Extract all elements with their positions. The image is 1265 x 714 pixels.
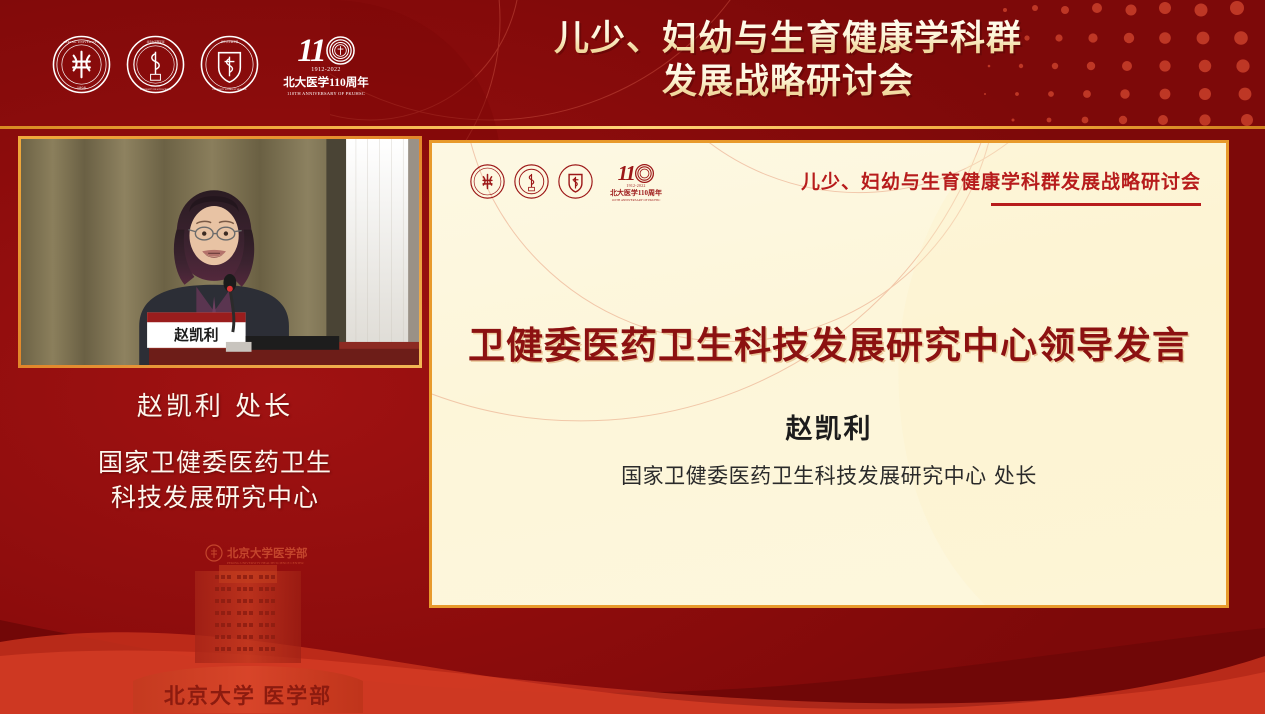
header-logo-row: PEKING UNIVERSITY 1898 北京大学医学 <box>52 32 374 96</box>
slide-anniversary-ring-icon <box>635 164 654 183</box>
anniversary-ring-icon <box>326 36 355 65</box>
speaker-organization-line-2: 科技发展研究中心 <box>0 480 430 515</box>
slide-main-title: 卫健委医药卫生科技发展研究中心领导发言 <box>432 315 1226 369</box>
slide-speaker-name: 赵凯利 <box>432 407 1226 446</box>
slide-anniversary-en-text: 110TH ANNIVERSARY OF PKUHSC <box>612 198 661 202</box>
svg-text:北京大学医学部: 北京大学医学部 <box>221 39 239 43</box>
svg-text:PEKING UNIVERSITY: PEKING UNIVERSITY <box>63 40 99 44</box>
svg-text:UNIVERSITY SCHOOL OF MEDICINE: UNIVERSITY SCHOOL OF MEDICINE <box>212 89 247 91</box>
anniversary-en-text: 110TH ANNIVERSARY OF PKUHSC <box>287 91 365 96</box>
slide-anniversary-cn-text: 北大医学110周年 <box>610 188 662 198</box>
pku-health-science-center-seal-icon: 北京大学医学部 UNIVERSITY HEALTH SCIENCE <box>126 35 185 94</box>
slide-health-science-center-seal-icon <box>514 164 549 199</box>
slide-header-underline <box>991 203 1201 206</box>
anniversary-years: 1912-2022 <box>311 67 341 73</box>
slide-speaker-affiliation: 国家卫健委医药卫生科技发展研究中心 处长 <box>432 460 1226 490</box>
speaker-video[interactable]: 赵凯利 <box>18 136 422 368</box>
left-speaker-column: 赵凯利 赵凯利 处长 国家卫健委医药卫生 科技发展研究中心 <box>0 128 430 714</box>
slide-logo-row: 11 1912-2022 北大医学110周年 <box>470 161 667 202</box>
slide-header: 11 1912-2022 北大医学110周年 <box>432 143 1226 213</box>
anniversary-cn-text: 北大医学110周年 <box>283 74 369 90</box>
svg-text:1898: 1898 <box>77 85 86 90</box>
speaker-organization: 国家卫健委医药卫生 科技发展研究中心 <box>0 445 430 515</box>
speaker-name-and-title: 赵凯利 处长 <box>0 386 430 423</box>
slide-anniversary-number: 11 <box>618 164 635 183</box>
slide-school-of-medicine-seal-icon <box>558 164 593 199</box>
speaker-video-frame-content: 赵凯利 <box>21 139 419 368</box>
svg-text:北京大学 医学部: 北京大学 医学部 <box>164 684 332 708</box>
anniversary-110-logo-icon: 11 <box>278 32 374 96</box>
event-title-line-1: 儿少、妇幼与生育健康学科群 <box>430 18 1146 61</box>
slide-peking-university-seal-icon <box>470 164 505 199</box>
anniversary-number: 11 <box>297 36 324 66</box>
svg-text:PEKING UNIVERSITY HEALTH SCIEN: PEKING UNIVERSITY HEALTH SCIENCE CENTER <box>227 561 304 565</box>
speaker-organization-line-1: 国家卫健委医药卫生 <box>0 445 430 480</box>
peking-university-seal-icon: PEKING UNIVERSITY 1898 <box>52 35 111 94</box>
header-band: PEKING UNIVERSITY 1898 北京大学医学 <box>0 0 1265 128</box>
presentation-stage: PEKING UNIVERSITY 1898 北京大学医学 <box>0 0 1265 714</box>
pku-school-of-medicine-seal-icon: 北京大学医学部 UNIVERSITY SCHOOL OF MEDICINE <box>200 35 259 94</box>
presentation-slide[interactable]: 11 1912-2022 北大医学110周年 <box>429 140 1229 608</box>
speaker-info-block: 赵凯利 处长 国家卫健委医药卫生 科技发展研究中心 <box>0 386 430 515</box>
svg-text:北京大学医学部: 北京大学医学部 <box>227 546 308 560</box>
pku-hsc-building-logo-icon: 北京大学医学部 PEKING UNIVERSITY HEALTH SCIENCE… <box>133 543 363 713</box>
slide-header-title: 儿少、妇幼与生育健康学科群发展战略研讨会 <box>801 167 1201 194</box>
event-main-title: 儿少、妇幼与生育健康学科群 发展战略研讨会 <box>430 18 1146 104</box>
svg-text:UNIVERSITY HEALTH SCIENCE: UNIVERSITY HEALTH SCIENCE <box>140 88 172 91</box>
event-title-line-2: 发展战略研讨会 <box>430 61 1146 104</box>
svg-text:赵凯利: 赵凯利 <box>173 326 218 344</box>
svg-text:北京大学医学部: 北京大学医学部 <box>147 39 165 43</box>
slide-header-title-block: 儿少、妇幼与生育健康学科群发展战略研讨会 <box>801 167 1201 206</box>
slide-anniversary-110-logo-icon: 11 1912-2022 北大医学110周年 <box>605 161 667 202</box>
